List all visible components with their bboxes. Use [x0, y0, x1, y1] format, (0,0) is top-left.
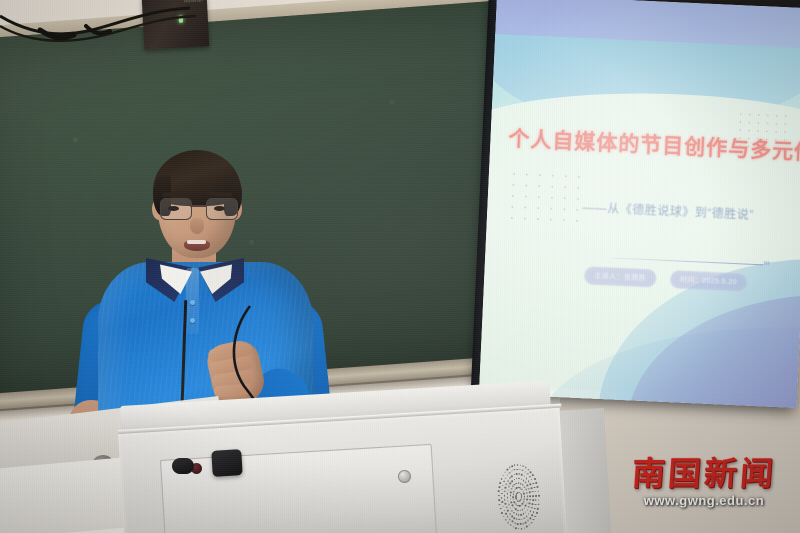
slide-arrow-accent: ›››: [763, 257, 769, 267]
dot-grid-left: [510, 173, 592, 233]
ceiling-cables: [0, 4, 220, 50]
podium-black-device: [211, 449, 242, 477]
speaker-teeth: [187, 240, 206, 244]
speaker-eye-left: [168, 206, 179, 211]
device-brand-label: Hikvision: [184, 0, 203, 4]
speaker-nose: [190, 218, 204, 234]
podium-speaker-grille: [493, 461, 543, 532]
microphone-base: [172, 458, 194, 474]
watermark-url: www.gwng.edu.cn: [616, 493, 792, 508]
projection-screen: 个人自媒体的节目创作与多元传播 ——从《德胜说球》到“德胜说” ››› 主讲人：…: [479, 0, 800, 408]
watermark: 南国新闻 www.gwng.edu.cn: [616, 457, 792, 525]
glasses-bridge: [190, 205, 206, 207]
slide-presenter-pill: 主讲人：张德胜: [584, 266, 657, 287]
slide-date-pill: 时间：2025.5.20: [670, 270, 748, 291]
watermark-brand: 南国新闻: [615, 457, 793, 490]
photo-scene: Hikvision 个人自媒体的节目创作与多元传播 ——从《德胜说球》到“德胜说…: [0, 0, 800, 533]
speaker-eye-right: [214, 206, 225, 211]
podium-access-door: [160, 444, 438, 533]
presentation-slide: 个人自媒体的节目创作与多元传播 ——从《德胜说球》到“德胜说” ››› 主讲人：…: [479, 0, 800, 408]
